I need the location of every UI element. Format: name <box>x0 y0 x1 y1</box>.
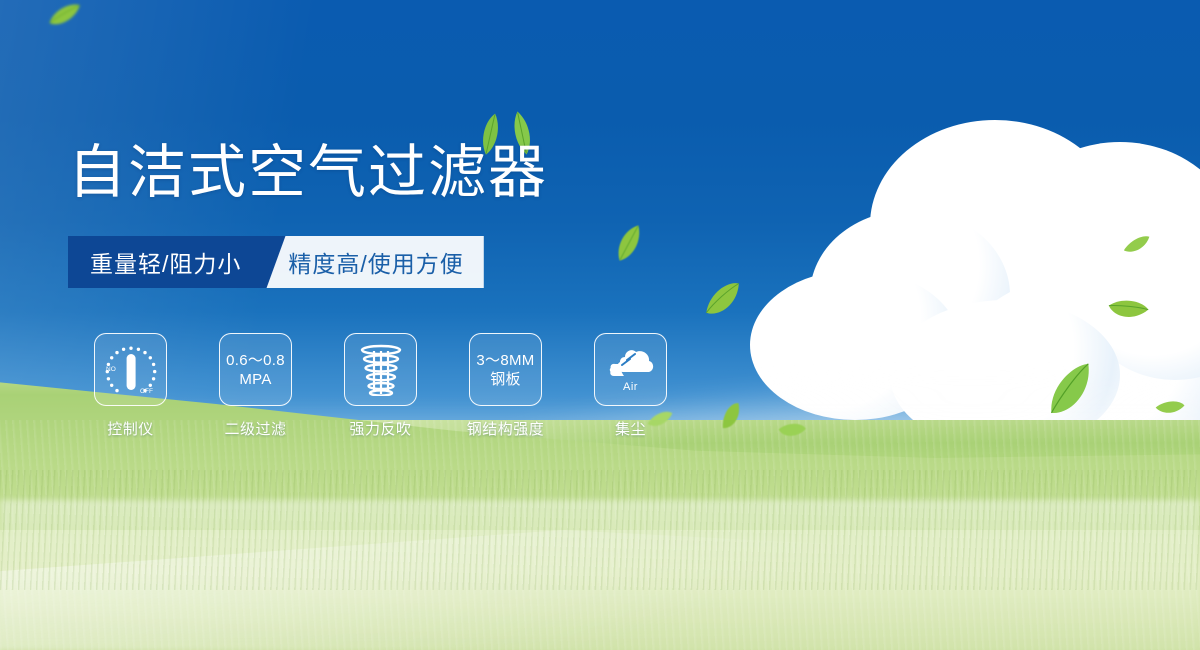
feature-item-dust-collection[interactable]: Air 集尘 <box>568 333 693 439</box>
gauge-label-off: OFF <box>140 388 153 395</box>
feature-label: 控制仪 <box>107 418 154 439</box>
feature-icon-box: NO OFF <box>94 333 167 406</box>
feature-icon-box <box>344 333 417 406</box>
pressure-line-2: MPA <box>226 370 285 389</box>
feature-label: 二级过滤 <box>224 418 286 439</box>
gauge-label-no: NO <box>106 366 116 373</box>
steel-line-1: 3～8MM <box>476 351 534 370</box>
banner-root: 自洁式空气过滤器 重量轻/阻力小 精度高/使用方便 <box>0 0 1200 650</box>
feature-label: 钢结构强度 <box>467 418 545 439</box>
page-title: 自洁式空气过滤器 <box>68 143 548 201</box>
feature-label: 强力反吹 <box>349 418 411 439</box>
steel-text-icon: 3～8MM 钢板 <box>476 351 534 389</box>
feature-list: NO OFF 控制仪 0.6～0.8 MPA 二级过滤 <box>68 333 693 439</box>
feature-label: 集尘 <box>615 418 646 439</box>
feature-item-controller[interactable]: NO OFF 控制仪 <box>68 333 193 439</box>
subtitle-badges: 重量轻/阻力小 精度高/使用方便 <box>68 236 484 288</box>
air-cloud-icon <box>605 347 657 381</box>
feature-icon-box: Air <box>594 333 667 406</box>
feature-icon-box: 3～8MM 钢板 <box>469 333 542 406</box>
feature-item-blowback[interactable]: 强力反吹 <box>318 333 443 439</box>
steel-line-2: 钢板 <box>476 370 534 389</box>
banner-content: 自洁式空气过滤器 重量轻/阻力小 精度高/使用方便 <box>0 0 1200 650</box>
feature-item-steel-strength[interactable]: 3～8MM 钢板 钢结构强度 <box>443 333 568 439</box>
air-label: Air <box>623 382 638 393</box>
subtitle-badge-primary: 重量轻/阻力小 <box>68 236 263 288</box>
pressure-text-icon: 0.6～0.8 MPA <box>226 351 285 389</box>
gauge-icon: NO OFF <box>102 341 160 399</box>
feature-icon-box: 0.6～0.8 MPA <box>219 333 292 406</box>
subtitle-badge-secondary: 精度高/使用方便 <box>262 236 483 288</box>
pressure-line-1: 0.6～0.8 <box>226 351 285 370</box>
feature-item-two-stage-filter[interactable]: 0.6～0.8 MPA 二级过滤 <box>193 333 318 439</box>
filter-stack-icon <box>356 344 406 396</box>
